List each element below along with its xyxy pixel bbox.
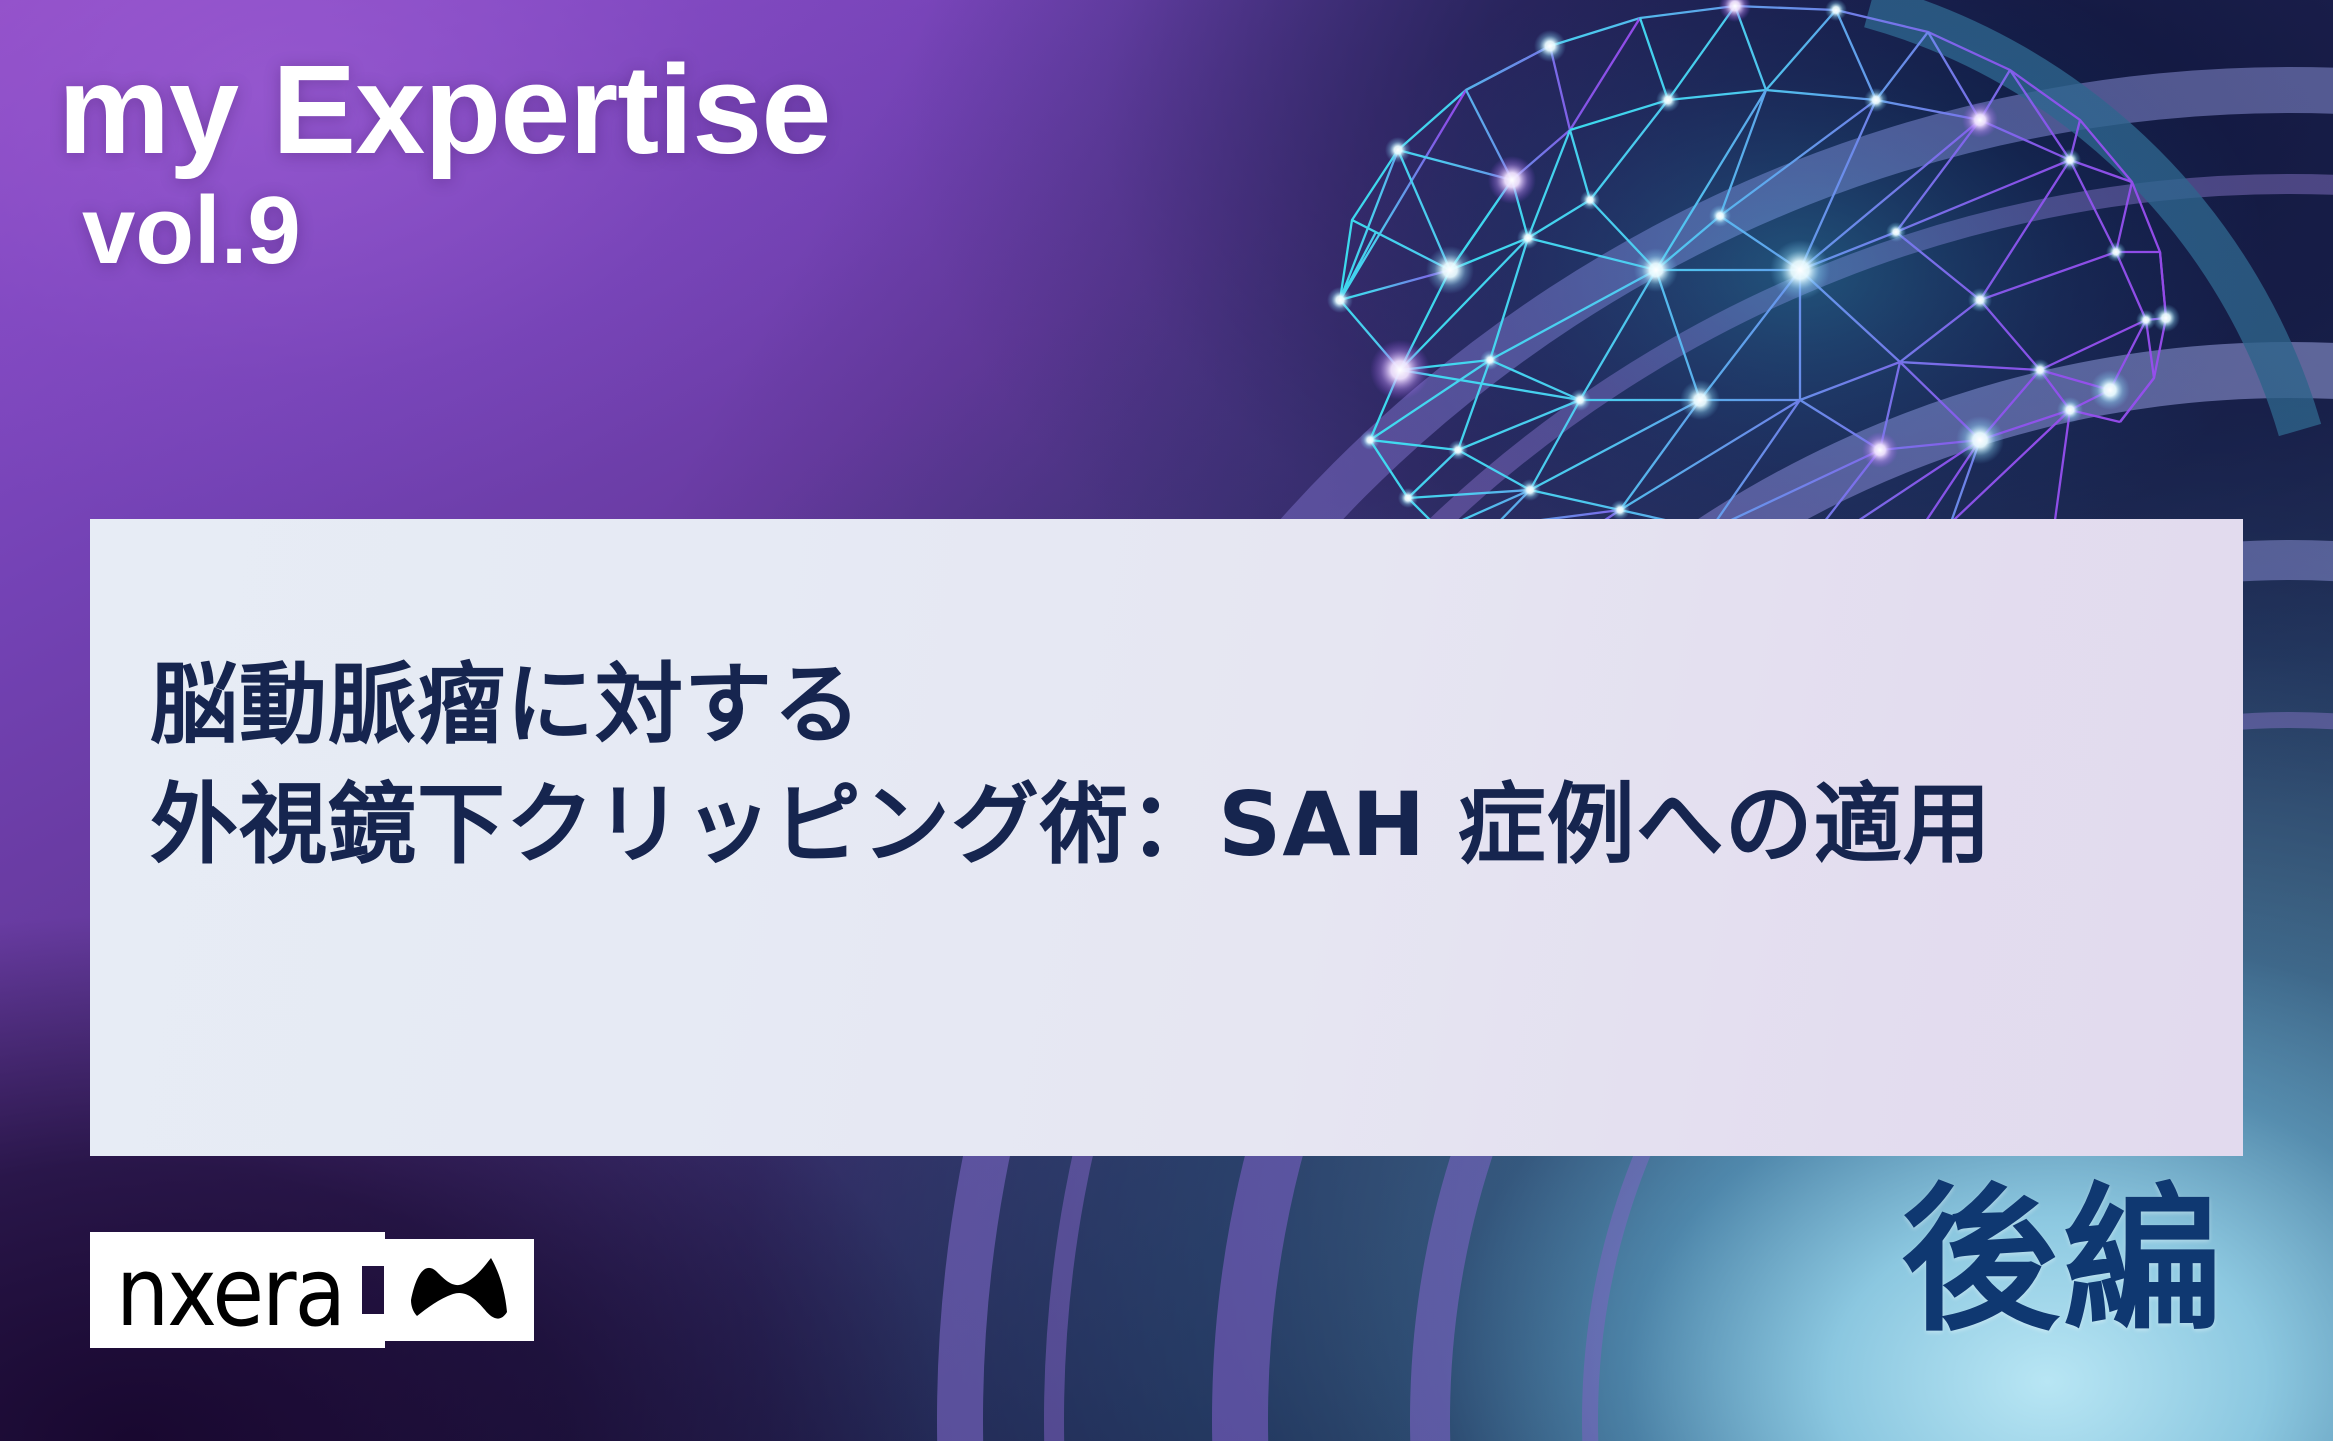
part-badge: 後編 xyxy=(1901,1182,2225,1340)
nxera-wordmark: nxera xyxy=(116,1251,344,1333)
title-panel: 脳動脈瘤に対する 外視鏡下クリッピング術：SAH 症例への適用 xyxy=(90,519,2243,1156)
title-card: my Expertise vol.9 脳動脈瘤に対する 外視鏡下クリッピング術：… xyxy=(0,0,2333,1441)
series-title: my Expertise xyxy=(58,46,830,175)
article-title-line-1: 脳動脈瘤に対する xyxy=(150,645,2203,765)
title-panel-content: 脳動脈瘤に対する 外視鏡下クリッピング術：SAH 症例への適用 xyxy=(150,645,2203,884)
nxera-logo[interactable]: nxera xyxy=(90,1232,534,1348)
nxera-swoosh-icon xyxy=(384,1239,534,1341)
header-block: my Expertise vol.9 xyxy=(58,46,830,281)
nxera-wordmark-box: nxera xyxy=(90,1232,362,1348)
volume-label: vol.9 xyxy=(82,181,830,282)
article-title-line-2: 外視鏡下クリッピング術：SAH 症例への適用 xyxy=(150,765,2203,885)
logo-notch xyxy=(362,1232,384,1348)
